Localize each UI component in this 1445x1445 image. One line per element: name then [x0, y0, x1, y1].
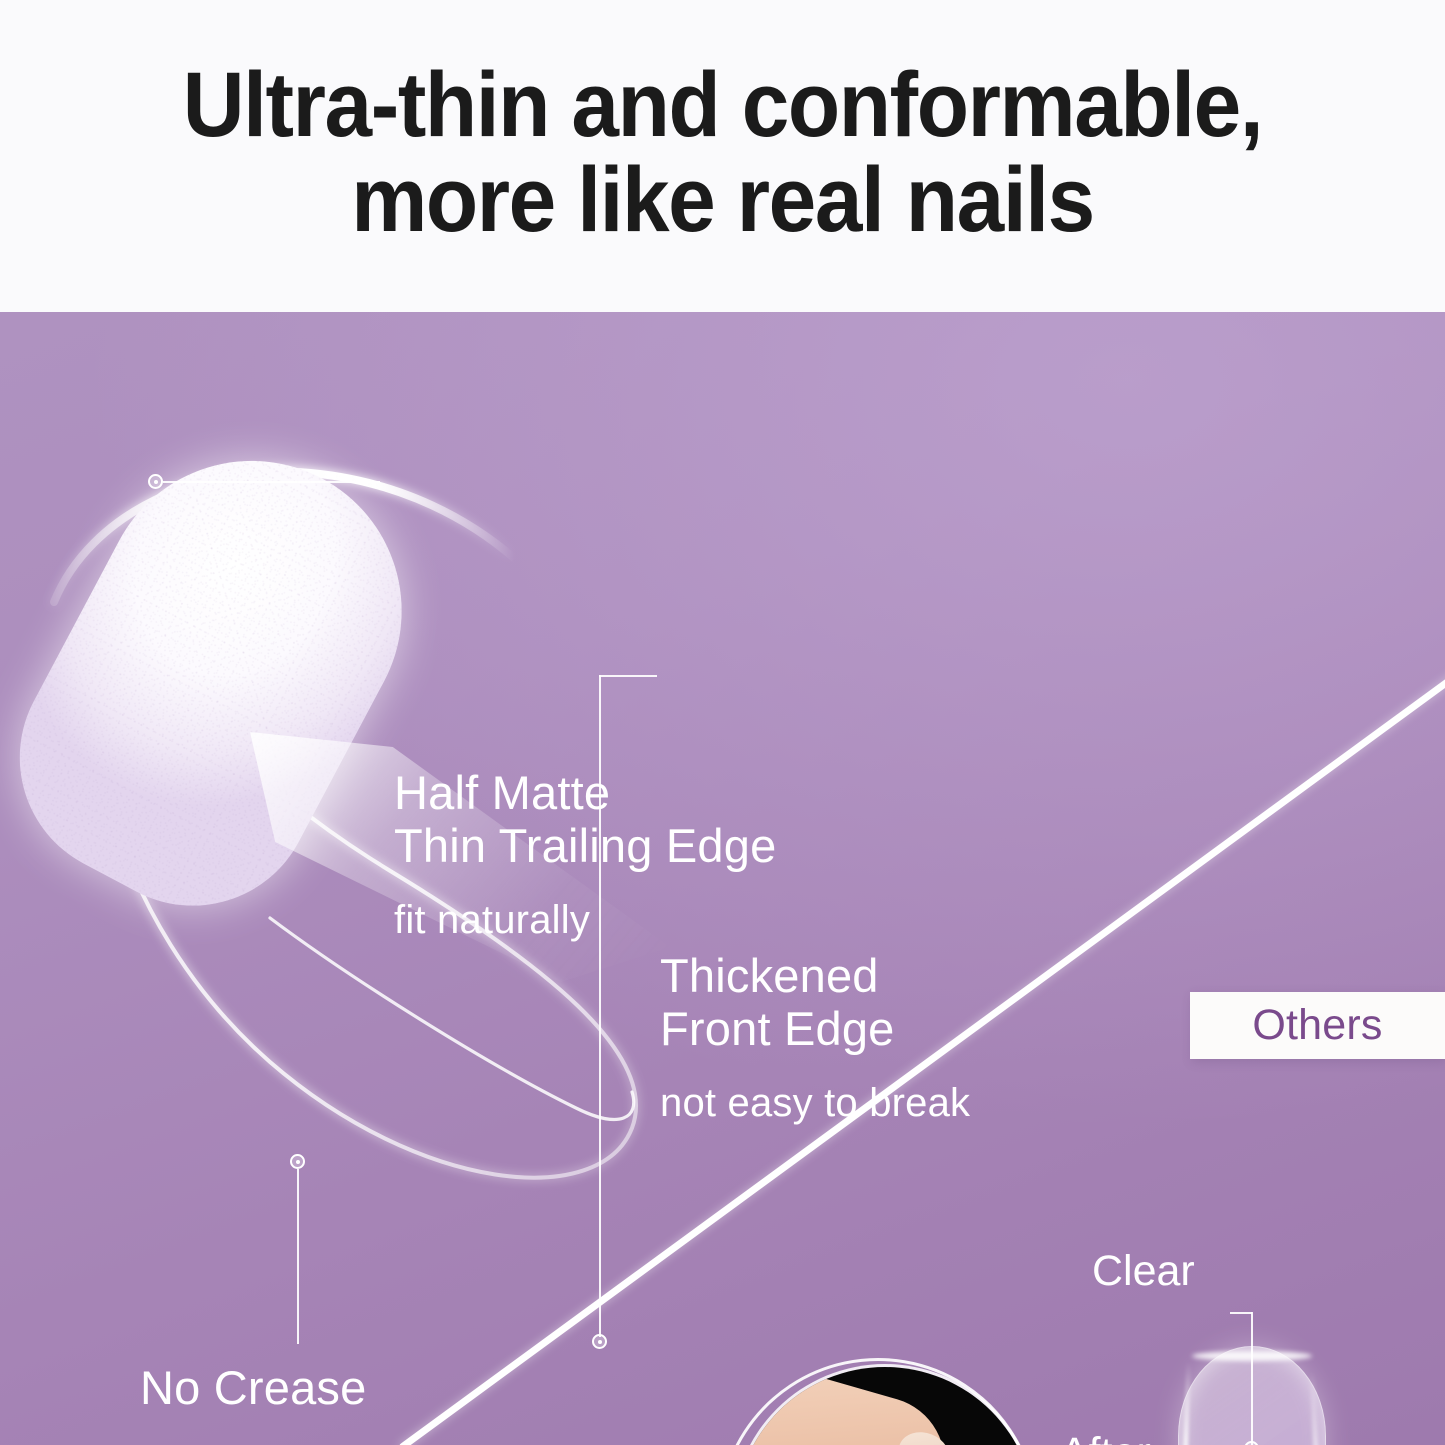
- callout-half-matte-subtitle: fit naturally: [394, 896, 776, 944]
- callout-no-crease-subtitle: strong toughness: [140, 1437, 450, 1445]
- label-clear: Clear: [1092, 1247, 1195, 1296]
- leader-dot-half-matte: [148, 474, 163, 489]
- leader-line-clear-horizontal: [1230, 1312, 1252, 1314]
- leader-line-front-edge-horizontal: [599, 675, 657, 677]
- callout-front-edge-line2: Front Edge: [660, 1003, 970, 1056]
- headline-line-2: more like real nails: [51, 153, 1395, 248]
- label-after-bend: After Bend: [1060, 1429, 1160, 1445]
- callout-front-edge-line1: Thickened: [660, 950, 970, 1003]
- badge-others-label: Others: [1190, 1001, 1445, 1050]
- callout-no-crease: No Crease strong toughness: [140, 1362, 450, 1445]
- infographic-canvas: Ultra-thin and conformable, more like re…: [0, 0, 1445, 1445]
- callout-half-matte-line1: Half Matte: [394, 767, 776, 820]
- leader-line-no-crease: [297, 1169, 299, 1344]
- leader-line-half-matte: [163, 481, 380, 483]
- leader-line-clear-vertical: [1251, 1312, 1253, 1445]
- callout-half-matte-line2: Thin Trailing Edge: [394, 820, 776, 873]
- header-band: Ultra-thin and conformable, more like re…: [0, 0, 1445, 312]
- label-after-bend-line1: After: [1060, 1429, 1160, 1445]
- leader-dot-no-crease: [290, 1154, 305, 1169]
- comparison-panel: Half Matte Thin Trailing Edge fit natura…: [0, 312, 1445, 1445]
- headline-line-1: Ultra-thin and conformable,: [51, 58, 1395, 153]
- callout-front-edge-subtitle: not easy to break: [660, 1079, 970, 1127]
- badge-others: Others: [1190, 992, 1445, 1059]
- page-headline: Ultra-thin and conformable, more like re…: [51, 58, 1395, 248]
- callout-half-matte: Half Matte Thin Trailing Edge fit natura…: [394, 767, 776, 944]
- callout-no-crease-title: No Crease: [140, 1362, 450, 1415]
- callout-thickened-front-edge: Thickened Front Edge not easy to break: [660, 950, 970, 1127]
